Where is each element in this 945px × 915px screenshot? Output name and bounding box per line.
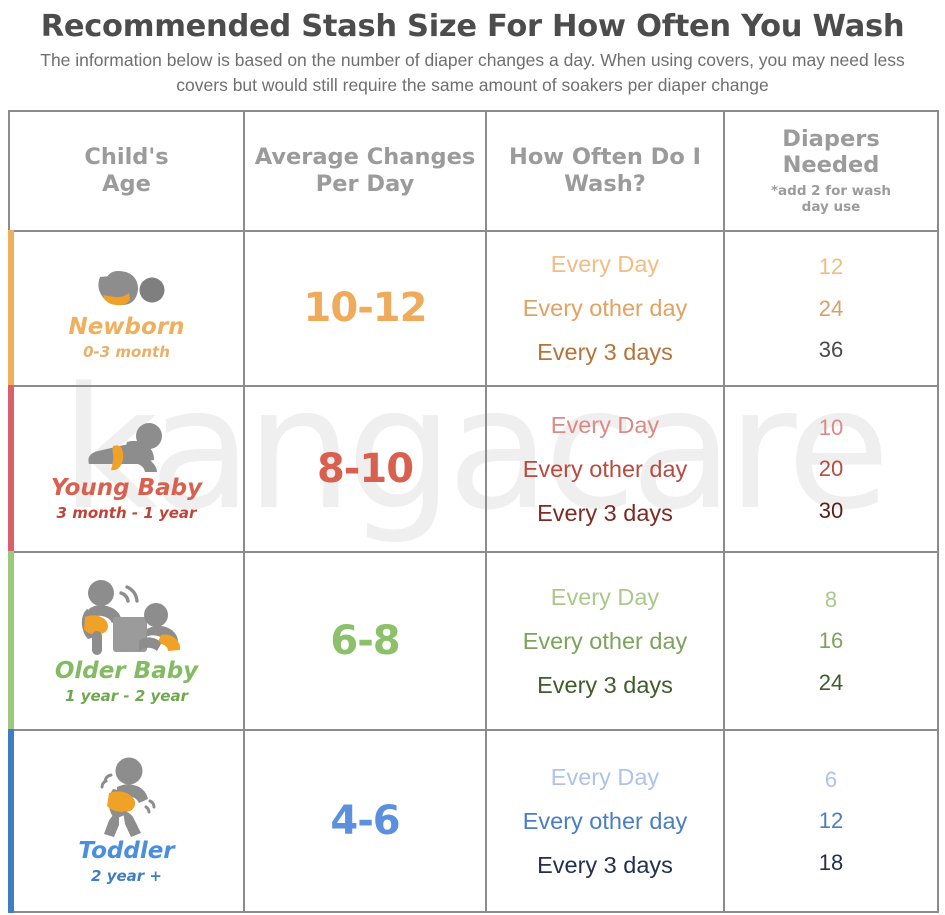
diapers-needed-value: 18 <box>725 842 937 883</box>
diapers-needed-toddler: 6 12 18 <box>724 730 938 912</box>
table-row: Newborn 0-3 month 10-12 Every Day Every … <box>9 231 938 386</box>
frequency-line: Every 3 days <box>487 843 723 887</box>
diapers-needed-value: 8 <box>725 579 937 620</box>
age-cell-young-baby: Young Baby 3 month - 1 year <box>9 386 244 552</box>
page-title: Recommended Stash Size For How Often You… <box>10 10 935 44</box>
page-header: Recommended Stash Size For How Often You… <box>0 0 945 98</box>
diapers-needed-value: 10 <box>725 407 937 448</box>
column-header-diapers-needed-line2: Needed <box>783 152 880 178</box>
average-changes-older-baby: 6-8 <box>244 552 486 730</box>
frequency-line: Every other day <box>487 447 723 491</box>
column-header-how-often-wash-line2: Wash? <box>564 171 646 197</box>
age-label: Older Baby <box>10 659 243 684</box>
page-subtitle: The information below is based on the nu… <box>23 48 923 98</box>
average-changes-newborn: 10-12 <box>244 231 486 386</box>
young-baby-tummy-time-icon <box>10 416 243 474</box>
diapers-needed-value: 16 <box>725 620 937 661</box>
age-label: Young Baby <box>10 476 243 501</box>
diapers-needed-value: 30 <box>725 490 937 531</box>
age-cell-newborn: Newborn 0-3 month <box>9 231 244 386</box>
column-header-diapers-needed: Diapers Needed *add 2 for wash day use <box>724 111 938 231</box>
average-changes-young-baby: 8-10 <box>244 386 486 552</box>
table-row: Older Baby 1 year - 2 year 6-8 Every Day… <box>9 552 938 730</box>
diapers-needed-note-line2: day use <box>802 199 861 215</box>
diapers-needed-value: 12 <box>725 800 937 841</box>
diapers-needed-value: 6 <box>725 759 937 800</box>
frequency-line: Every other day <box>487 799 723 843</box>
column-header-average-changes-line1: Average Changes <box>255 144 476 170</box>
older-baby-playing-icon <box>10 577 243 657</box>
toddler-walking-icon <box>10 757 243 837</box>
column-header-child-age-line2: Age <box>102 171 151 197</box>
stash-size-table: Child's Age Average Changes Per Day How … <box>8 110 939 913</box>
table-header-row: Child's Age Average Changes Per Day How … <box>9 111 938 231</box>
age-label: Toddler <box>10 839 243 864</box>
wash-frequency-toddler: Every Day Every other day Every 3 days <box>486 730 724 912</box>
age-range-label: 1 year - 2 year <box>10 687 243 705</box>
column-header-average-changes-line2: Per Day <box>316 171 415 197</box>
age-range-label: 0-3 month <box>10 343 243 361</box>
frequency-line: Every 3 days <box>487 491 723 535</box>
column-header-diapers-needed-note: *add 2 for wash day use <box>725 183 937 216</box>
table-row: Young Baby 3 month - 1 year 8-10 Every D… <box>9 386 938 552</box>
frequency-line: Every Day <box>487 575 723 619</box>
column-header-child-age-line1: Child's <box>84 144 168 170</box>
age-cell-older-baby: Older Baby 1 year - 2 year <box>9 552 244 730</box>
frequency-line: Every Day <box>487 242 723 286</box>
diapers-needed-newborn: 12 24 36 <box>724 231 938 386</box>
wash-frequency-older-baby: Every Day Every other day Every 3 days <box>486 552 724 730</box>
frequency-line: Every Day <box>487 403 723 447</box>
column-header-how-often-wash-line1: How Often Do I <box>509 144 701 170</box>
row-accent-bar-newborn <box>8 230 14 387</box>
row-accent-bar-toddler <box>8 729 14 913</box>
age-range-label: 2 year + <box>10 867 243 885</box>
diapers-needed-value: 12 <box>725 246 937 287</box>
table-header: Child's Age Average Changes Per Day How … <box>9 111 938 231</box>
column-header-diapers-needed-line1: Diapers <box>782 126 879 152</box>
diapers-needed-value: 24 <box>725 288 937 329</box>
row-accent-bar-young-baby <box>8 385 14 553</box>
age-range-label: 3 month - 1 year <box>10 504 243 522</box>
age-cell-toddler: Toddler 2 year + <box>9 730 244 912</box>
stash-table-container: kangacare Child's Age Average Changes Pe… <box>8 110 937 913</box>
column-header-average-changes: Average Changes Per Day <box>244 111 486 231</box>
diapers-needed-value: 36 <box>725 329 937 370</box>
diapers-needed-older-baby: 8 16 24 <box>724 552 938 730</box>
frequency-line: Every other day <box>487 286 723 330</box>
average-changes-toddler: 4-6 <box>244 730 486 912</box>
diapers-needed-note-line1: *add 2 for wash <box>771 183 891 199</box>
age-label: Newborn <box>10 315 243 340</box>
newborn-curled-baby-icon <box>10 255 243 313</box>
table-row: Toddler 2 year + 4-6 Every Day Every oth… <box>9 730 938 912</box>
diapers-needed-value: 20 <box>725 448 937 489</box>
diapers-needed-value: 24 <box>725 662 937 703</box>
wash-frequency-newborn: Every Day Every other day Every 3 days <box>486 231 724 386</box>
frequency-line: Every 3 days <box>487 330 723 374</box>
frequency-line: Every other day <box>487 619 723 663</box>
column-header-how-often-wash: How Often Do I Wash? <box>486 111 724 231</box>
row-accent-bar-older-baby <box>8 551 14 731</box>
column-header-child-age: Child's Age <box>9 111 244 231</box>
frequency-line: Every Day <box>487 755 723 799</box>
diapers-needed-young-baby: 10 20 30 <box>724 386 938 552</box>
table-body: Newborn 0-3 month 10-12 Every Day Every … <box>9 231 938 912</box>
wash-frequency-young-baby: Every Day Every other day Every 3 days <box>486 386 724 552</box>
frequency-line: Every 3 days <box>487 663 723 707</box>
